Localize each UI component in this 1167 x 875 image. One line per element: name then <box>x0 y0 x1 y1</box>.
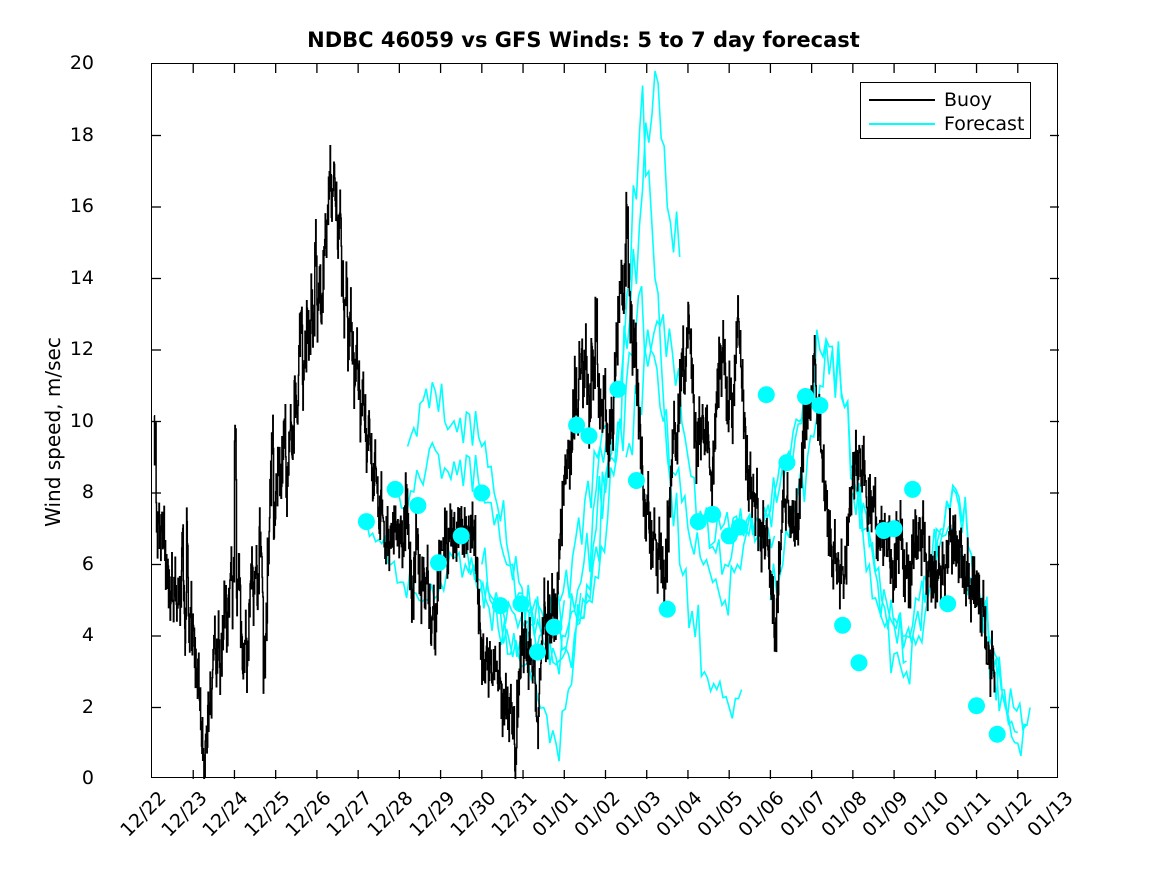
axis-tickmarks <box>152 64 1059 779</box>
forecast-marker <box>811 397 828 414</box>
forecast-marker <box>731 519 748 536</box>
forecast-marker <box>492 597 509 614</box>
y-tick-label: 8 <box>82 481 94 503</box>
page-title: NDBC 46059 vs GFS Winds: 5 to 7 day fore… <box>0 28 1167 52</box>
chart-figure: NDBC 46059 vs GFS Winds: 5 to 7 day fore… <box>0 0 1167 875</box>
forecast-marker <box>778 454 795 471</box>
forecast-marker <box>758 386 775 403</box>
legend-label-forecast: Forecast <box>944 115 1024 134</box>
forecast-marker <box>968 697 985 714</box>
y-tick-label: 14 <box>70 267 94 289</box>
legend-swatch-forecast <box>869 123 935 125</box>
y-tick-label: 0 <box>82 767 94 789</box>
buoy-trace <box>154 146 995 779</box>
forecast-marker <box>529 644 546 661</box>
buoy-series-line <box>154 146 995 779</box>
forecast-marker <box>851 654 868 671</box>
forecast-marker <box>690 513 707 530</box>
forecast-marker <box>358 513 375 530</box>
forecast-trace <box>853 483 1026 729</box>
y-axis-label: Wind speed, m/sec <box>41 122 65 742</box>
y-tick-label: 2 <box>82 696 94 718</box>
forecast-trace <box>709 330 907 663</box>
forecast-marker <box>989 726 1006 743</box>
plot-area <box>151 63 1058 778</box>
chart-legend: Buoy Forecast <box>860 82 1031 139</box>
forecast-marker <box>409 497 426 514</box>
y-tick-label: 16 <box>70 195 94 217</box>
legend-swatch-buoy <box>869 99 935 101</box>
y-tick-label: 6 <box>82 553 94 575</box>
forecast-marker <box>473 485 490 502</box>
forecast-marker <box>886 520 903 537</box>
forecast-marker <box>939 595 956 612</box>
forecast-marker <box>546 619 563 636</box>
y-tick-label: 12 <box>70 338 94 360</box>
forecast-trace <box>544 71 680 668</box>
forecast-marker <box>430 554 447 571</box>
y-tick-label: 10 <box>70 410 94 432</box>
legend-item-forecast: Forecast <box>869 112 1024 136</box>
forecast-marker <box>387 481 404 498</box>
y-tick-label: 4 <box>82 624 94 646</box>
legend-item-buoy: Buoy <box>869 88 992 112</box>
forecast-marker <box>659 601 676 618</box>
y-tick-label: 18 <box>70 124 94 146</box>
plot-canvas <box>152 64 1059 779</box>
forecast-marker <box>628 472 645 489</box>
forecast-marker <box>834 617 851 634</box>
forecast-series-lines <box>366 71 1030 761</box>
forecast-marker <box>704 506 721 523</box>
forecast-marker <box>797 388 814 405</box>
forecast-marker <box>513 595 530 612</box>
forecast-marker <box>904 481 921 498</box>
forecast-marker <box>581 427 598 444</box>
forecast-marker <box>609 381 626 398</box>
forecast-marker <box>453 527 470 544</box>
legend-label-buoy: Buoy <box>944 91 992 110</box>
y-tick-label: 20 <box>70 52 94 74</box>
